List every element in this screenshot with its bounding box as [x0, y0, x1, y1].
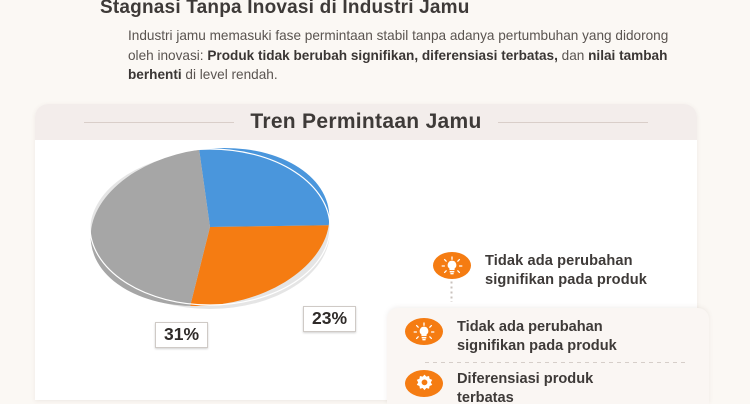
- lightbulb-icon: [433, 252, 471, 279]
- overlay-point-item[interactable]: Diferensiasi produk terbatas: [387, 356, 709, 404]
- pie-chart-svg: [60, 132, 390, 332]
- overlay-point-line1: Diferensiasi produk: [457, 371, 593, 387]
- pie-label-menurun: 23%: [303, 306, 356, 332]
- intro-text-2: dan: [558, 48, 588, 63]
- intro-bold-1: Produk tidak berubah signifikan, diferen…: [207, 48, 558, 63]
- key-point-line1: Tidak ada perubahan: [485, 253, 633, 269]
- pie-chart: 23% 31% 46%: [60, 132, 390, 332]
- key-point-line2: signifikan pada produk: [485, 272, 647, 288]
- overlay-point-line1: Tidak ada perubahan: [457, 319, 603, 335]
- overlay-point-text: Diferensiasi produk terbatas: [457, 370, 593, 404]
- intro-paragraph: Industri jamu memasuki fase permintaan s…: [128, 26, 688, 85]
- overlay-point-item[interactable]: Tidak ada perubahan signifikan pada prod…: [387, 308, 709, 356]
- gear-icon: [405, 370, 443, 397]
- title-rule-right: [498, 122, 648, 123]
- key-point-text: Tidak ada perubahan signifikan pada prod…: [485, 252, 647, 290]
- title-rule-left: [84, 122, 234, 123]
- intro-text-3: di level rendah.: [182, 67, 278, 82]
- overlay-point-line2: terbatas: [457, 390, 514, 404]
- pie-label-naik: 31%: [155, 322, 208, 348]
- page-title: Stagnasi Tanpa Inovasi di Industri Jamu: [100, 0, 700, 19]
- overlay-point-line2: signifikan pada produk: [457, 338, 617, 354]
- key-point-item[interactable]: Tidak ada perubahan signifikan pada prod…: [433, 252, 697, 290]
- overlay-point-text: Tidak ada perubahan signifikan pada prod…: [457, 318, 617, 356]
- chart-title: Tren Permintaan Jamu: [250, 110, 481, 134]
- overlay-points-card: Tidak ada perubahan signifikan pada prod…: [387, 308, 709, 404]
- lightbulb-icon: [405, 318, 443, 345]
